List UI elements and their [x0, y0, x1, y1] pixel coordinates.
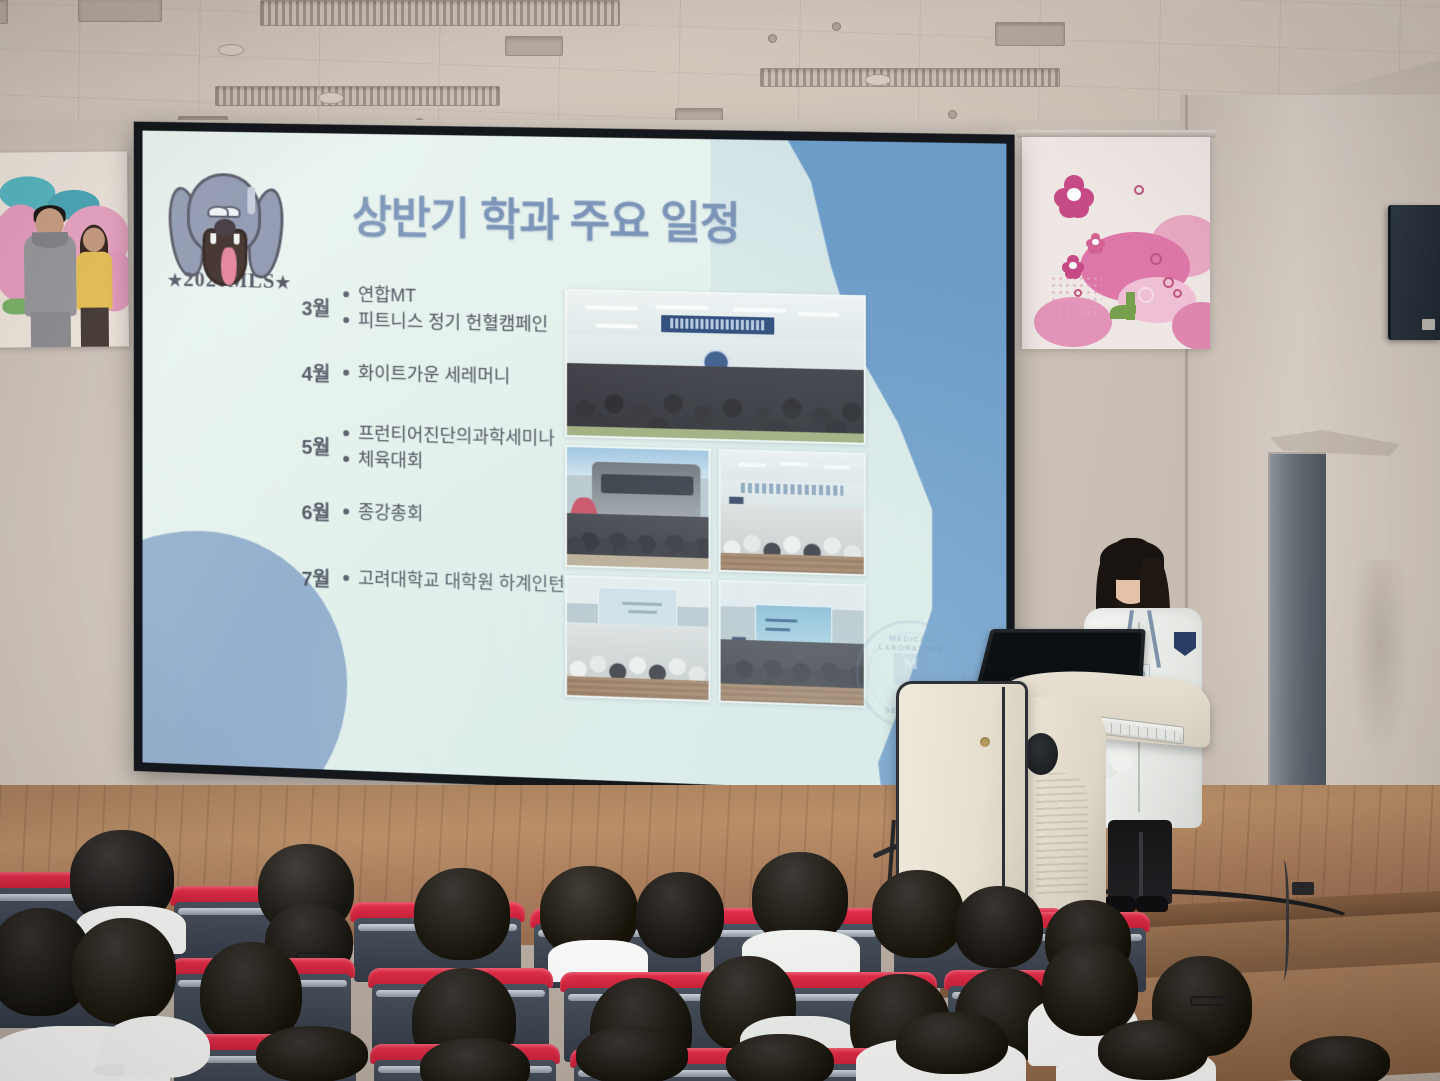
- photo-screen-text-line: [628, 610, 657, 614]
- schedule-items: 프런티어진단의과학세미나 체육대회: [343, 421, 583, 478]
- ceiling-sprinkler: [768, 34, 777, 43]
- dog-tooth: [210, 233, 216, 244]
- photo-white-gown-ceremony: [719, 449, 866, 576]
- schedule-month-label: 7월: [296, 563, 343, 593]
- schedule-item-label: 화이트가운 세레머니: [358, 361, 510, 390]
- cherry-blossom-banner: [1022, 137, 1210, 349]
- banner-leaf: [1110, 305, 1136, 319]
- photo-seminar-group: [565, 575, 711, 702]
- banner-ring-accent: [1163, 277, 1174, 288]
- banner-flower-icon: [1054, 175, 1094, 213]
- poster-figure-male: [24, 208, 77, 348]
- photo-light-fixture: [738, 462, 767, 467]
- schedule-item-label: 연합MT: [358, 283, 416, 310]
- bullet-icon: [343, 291, 349, 297]
- audience-member-head: [872, 870, 964, 958]
- bullet-icon: [343, 317, 349, 323]
- lectern-speaker-grille: [1024, 733, 1058, 775]
- poster-figure-head: [83, 228, 105, 252]
- audience-member-head: [1098, 1020, 1208, 1080]
- poster-figure-legs: [81, 308, 109, 348]
- banner-flower-icon: [1086, 233, 1105, 251]
- poster-figure-jacket: [76, 251, 113, 309]
- schedule-item-label: 피트니스 정기 헌혈캠페인: [358, 308, 548, 338]
- banner-flower-icon: [1062, 255, 1084, 276]
- schedule-row: 4월 화이트가운 세레머니: [296, 358, 583, 394]
- ceiling-access-panel: [995, 22, 1065, 46]
- dog-nose-icon: [214, 219, 235, 237]
- bullet-icon: [343, 456, 349, 462]
- wall-stain: [1350, 560, 1410, 760]
- bullet-icon: [343, 369, 349, 375]
- audience-member-head: [1290, 1036, 1390, 1081]
- schedule-items: 고려대학교 대학원 하계인턴십: [343, 566, 583, 599]
- projection-screen-surface: ★2020MLS★ 상반기 학과 주요 일정 3월 연합MT 피트니스 정기 헌…: [142, 131, 1006, 797]
- audience-member-head: [576, 1026, 688, 1081]
- dog-forehead-stripe: [247, 187, 255, 215]
- schedule-row: 5월 프런티어진단의과학세미나 체육대회: [296, 420, 583, 479]
- poster-figure-legs: [31, 312, 71, 348]
- photo-light-fixture: [798, 312, 840, 317]
- audience-member-head: [256, 1026, 368, 1081]
- banner-ring-accent: [1150, 253, 1162, 265]
- ceiling-sprinkler: [832, 22, 841, 31]
- schedule-items: 화이트가운 세레머니: [343, 361, 583, 392]
- photo-row: [565, 575, 866, 708]
- ceiling-air-vent: [260, 0, 620, 26]
- banner-ring-accent: [1134, 185, 1144, 195]
- photo-light-fixture: [824, 465, 850, 470]
- dog-tongue: [221, 247, 237, 285]
- photo-stage-steps: [567, 676, 709, 700]
- audience-member-head: [636, 872, 724, 958]
- schedule-row: 7월 고려대학교 대학원 하계인턴십: [296, 563, 583, 601]
- photo-banner-text: [670, 319, 765, 331]
- schedule-items: 연합MT 피트니스 정기 헌혈캠페인: [343, 282, 583, 338]
- ceiling-air-vent: [215, 86, 500, 106]
- ceiling-access-panel: [505, 36, 563, 56]
- photo-bus-window: [601, 474, 694, 495]
- presentation-slide: ★2020MLS★ 상반기 학과 주요 일정 3월 연합MT 피트니스 정기 헌…: [142, 131, 1006, 797]
- lecture-hall-photo: ★2020MLS★ 상반기 학과 주요 일정 3월 연합MT 피트니스 정기 헌…: [0, 0, 1440, 1081]
- wall-mounted-speaker: [1388, 205, 1440, 340]
- schedule-month-label: 6월: [296, 496, 343, 526]
- audience-member-glasses: [1190, 996, 1230, 1006]
- bullet-icon: [343, 575, 349, 581]
- schedule-month-label: 4월: [296, 358, 343, 388]
- dog-tooth: [234, 234, 240, 245]
- photo-screen-text-line: [765, 628, 791, 632]
- schedule-item-label: 종강총회: [358, 500, 423, 527]
- ceiling-downlight: [318, 92, 344, 104]
- photo-assembly-group: [719, 580, 866, 708]
- photo-blood-donation-bus: [565, 445, 711, 572]
- schedule-item: 종강총회: [343, 499, 583, 531]
- star-icon: ★: [275, 273, 291, 292]
- audience-seating: [0, 820, 1440, 1081]
- ceiling-air-vent: [760, 68, 1060, 87]
- schedule-item: 고려대학교 대학원 하계인턴십: [343, 566, 583, 599]
- schedule-items: 종강총회: [343, 499, 583, 531]
- beagle-mascot-logo: ★2020MLS★: [164, 160, 289, 310]
- audience-member-head: [1042, 942, 1138, 1036]
- schedule-list: 3월 연합MT 피트니스 정기 헌혈캠페인 4월 화이트가운 세레머니 5월: [296, 281, 583, 626]
- star-icon: ★: [168, 271, 184, 290]
- schedule-row: 3월 연합MT 피트니스 정기 헌혈캠페인: [296, 281, 583, 338]
- banner-ring-accent: [1074, 289, 1082, 297]
- audience-member-head: [726, 1034, 834, 1081]
- audience-member-head: [896, 1012, 1008, 1074]
- photo-collage: [565, 289, 866, 716]
- student-illustration-poster: [0, 151, 129, 347]
- photo-event-banner: [661, 315, 774, 335]
- bullet-icon: [343, 430, 349, 436]
- schedule-item-label: 고려대학교 대학원 하계인턴십: [358, 566, 581, 599]
- photo-projection-screen: [598, 587, 677, 627]
- audience-member-cap: [100, 1016, 210, 1078]
- schedule-row: 6월 종강총회: [296, 496, 583, 533]
- photo-crowd: [567, 363, 864, 437]
- audience-member-head: [414, 868, 510, 960]
- ceiling-downlight: [865, 74, 891, 86]
- banner-ring-accent: [1173, 289, 1182, 298]
- photo-bus: [592, 462, 700, 519]
- schedule-month-label: 5월: [296, 431, 343, 461]
- poster-figure-female: [74, 227, 115, 347]
- photo-stage-steps: [721, 553, 864, 574]
- banner-ring-accent: [1138, 287, 1154, 303]
- schedule-item-label: 체육대회: [358, 447, 423, 474]
- audience-member-head: [955, 886, 1043, 968]
- schedule-item: 피트니스 정기 헌혈캠페인: [343, 308, 583, 339]
- audience-member-head: [72, 918, 176, 1024]
- lectern-keyhole[interactable]: [980, 737, 990, 747]
- schedule-item: 화이트가운 세레머니: [343, 361, 583, 392]
- bullet-icon: [343, 508, 349, 514]
- slide-title: 상반기 학과 주요 일정: [352, 181, 740, 252]
- dog-eye-icon: [207, 206, 228, 218]
- photo-screen-text-line: [622, 601, 662, 605]
- ceiling-sprinkler: [948, 110, 957, 119]
- schedule-month-label: 3월: [296, 292, 343, 322]
- photo-row: [565, 445, 866, 576]
- photo-screen-text-line: [765, 619, 798, 623]
- ceiling-access-panel: [0, 0, 8, 24]
- ceiling-access-panel: [78, 0, 162, 22]
- dog-mouth-icon: [203, 228, 248, 286]
- ceiling-downlight: [218, 44, 244, 56]
- projection-screen: ★2020MLS★ 상반기 학과 주요 일정 3월 연합MT 피트니스 정기 헌…: [134, 122, 1015, 806]
- photo-auditorium-group: [565, 289, 866, 445]
